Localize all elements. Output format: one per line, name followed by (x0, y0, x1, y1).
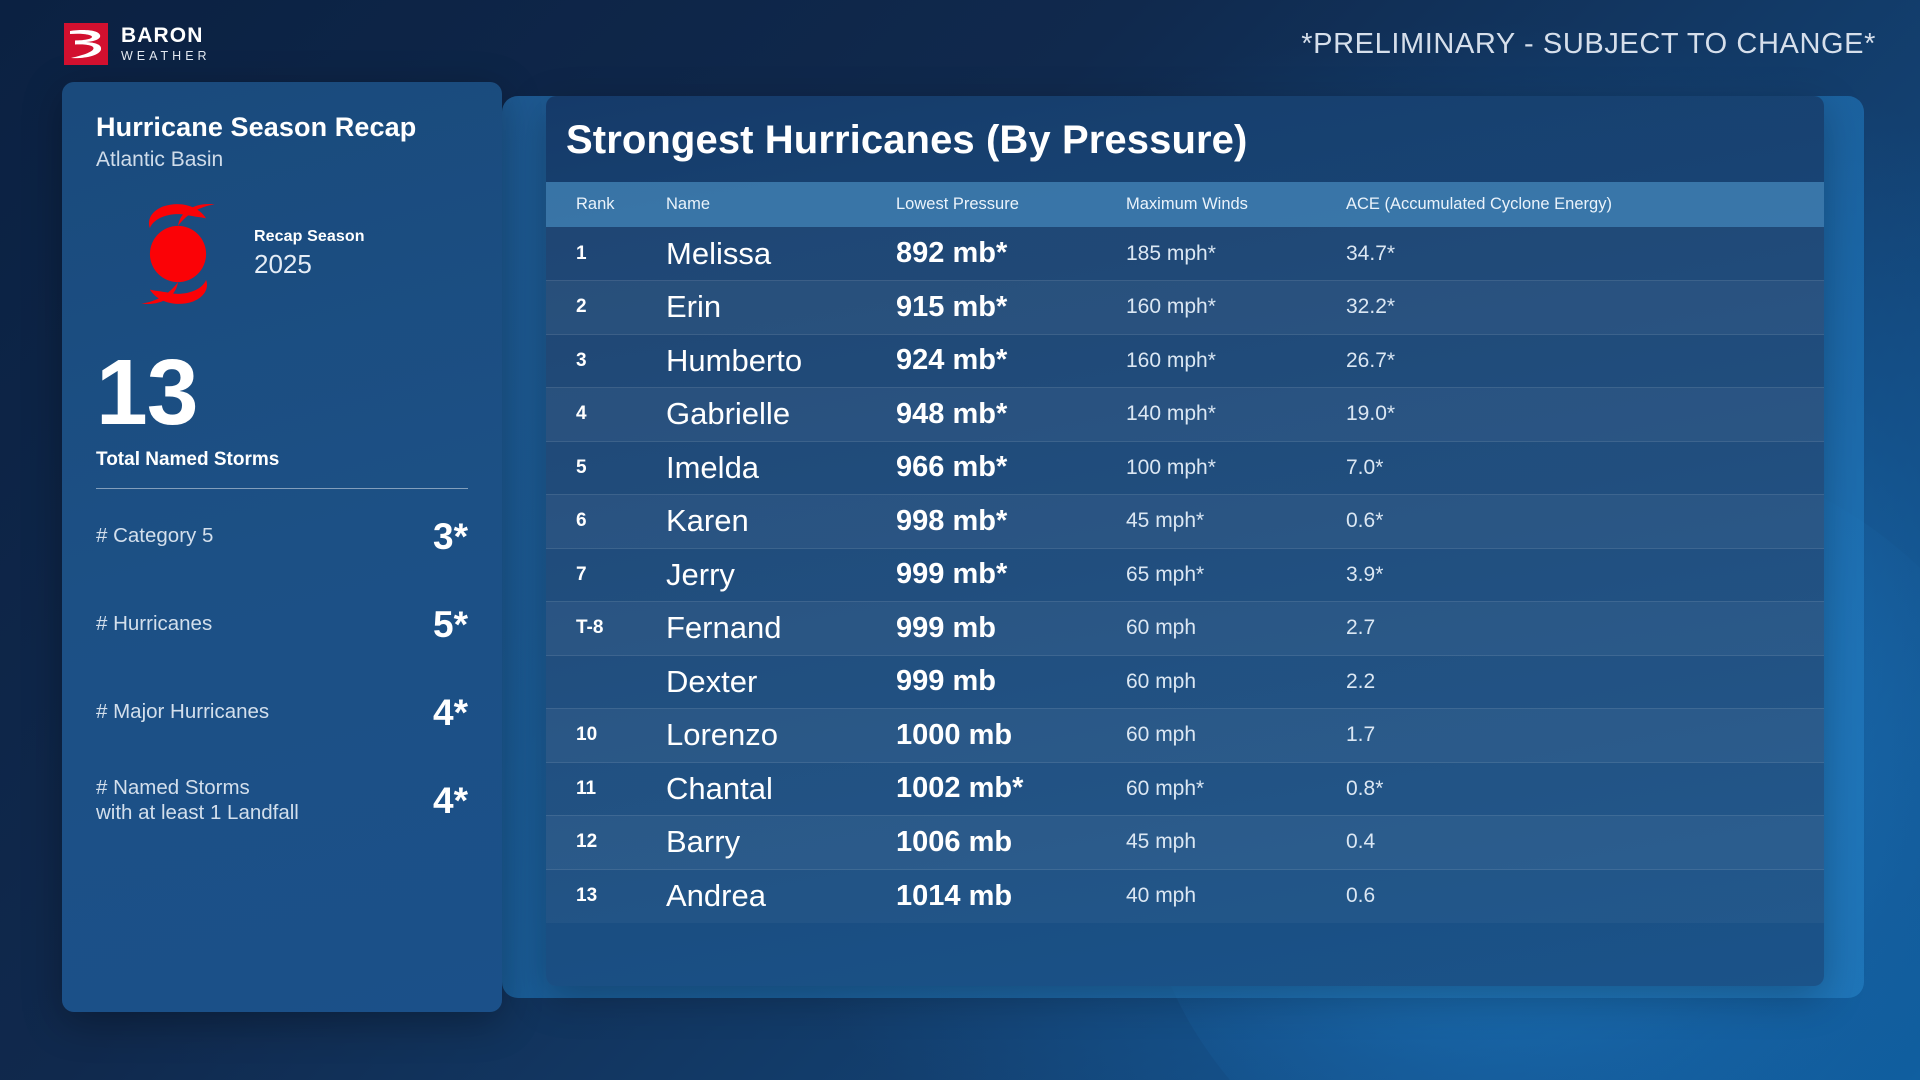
cell-rank-text: 5 (576, 457, 587, 478)
cell-ace-text: 0.8* (1346, 777, 1383, 800)
cell-winds-text: 65 mph* (1126, 563, 1204, 586)
cell-ace-text: 0.6* (1346, 509, 1383, 532)
cell-ace: 26.7* (1346, 334, 1824, 388)
cell-rank-text: 2 (576, 296, 587, 317)
cell-winds-text: 160 mph* (1126, 349, 1216, 372)
stat-label: # Category 5 (96, 524, 213, 548)
cell-winds: 60 mph (1126, 655, 1346, 709)
table-row[interactable]: T-8Fernand999 mb60 mph2.7 (546, 602, 1824, 656)
cell-name-text: Lorenzo (666, 717, 778, 752)
table-header-row: Rank Name Lowest Pressure Maximum Winds … (546, 182, 1824, 227)
table-row[interactable]: 13Andrea1014 mb40 mph0.6 (546, 869, 1824, 923)
cell-pressure-text: 1002 mb* (896, 772, 1023, 804)
table-row[interactable]: 11Chantal1002 mb*60 mph*0.8* (546, 762, 1824, 816)
cell-pressure-text: 915 mb* (896, 291, 1007, 323)
total-named-storms-label: Total Named Storms (96, 449, 468, 471)
cell-winds: 45 mph (1126, 816, 1346, 870)
cell-name: Erin (666, 281, 896, 335)
cell-ace: 2.2 (1346, 655, 1824, 709)
cell-pressure: 948 mb* (896, 388, 1126, 442)
cell-pressure-text: 1006 mb (896, 826, 1012, 858)
cell-pressure-text: 1014 mb (896, 880, 1012, 912)
cell-name: Chantal (666, 762, 896, 816)
cell-winds-text: 60 mph (1126, 616, 1196, 639)
baron-b-logo-icon (64, 23, 108, 65)
cell-rank-text: 13 (576, 885, 597, 906)
cell-winds-text: 100 mph* (1126, 456, 1216, 479)
cell-rank: 13 (546, 869, 666, 923)
top-bar: BARON WEATHER *PRELIMINARY - SUBJECT TO … (0, 0, 1920, 88)
cell-ace: 7.0* (1346, 441, 1824, 495)
strongest-hurricanes-panel: Strongest Hurricanes (By Pressure) Rank … (546, 96, 1824, 986)
cell-winds: 65 mph* (1126, 548, 1346, 602)
cell-ace-text: 0.4 (1346, 830, 1375, 853)
cell-pressure-text: 998 mb* (896, 505, 1007, 537)
cell-rank: 4 (546, 388, 666, 442)
cell-pressure-text: 892 mb* (896, 237, 1007, 269)
cell-pressure: 915 mb* (896, 281, 1126, 335)
cell-name-text: Fernand (666, 610, 781, 645)
cell-ace-text: 0.6 (1346, 884, 1375, 907)
cell-pressure: 1014 mb (896, 869, 1126, 923)
column-header-rank[interactable]: Rank (546, 182, 666, 227)
cell-pressure: 999 mb* (896, 548, 1126, 602)
cell-rank: 5 (546, 441, 666, 495)
cell-winds-text: 40 mph (1126, 884, 1196, 907)
stat-label-line2: with at least 1 Landfall (96, 801, 299, 825)
cell-pressure-text: 1000 mb (896, 719, 1012, 751)
table-row[interactable]: 1Melissa892 mb*185 mph*34.7* (546, 227, 1824, 281)
cell-winds-text: 160 mph* (1126, 295, 1216, 318)
cell-name-text: Gabrielle (666, 396, 790, 431)
cell-pressure: 1006 mb (896, 816, 1126, 870)
cell-name: Andrea (666, 869, 896, 923)
cell-name-text: Imelda (666, 450, 759, 485)
cell-ace-text: 34.7* (1346, 242, 1395, 265)
cell-ace-text: 32.2* (1346, 295, 1395, 318)
cell-pressure-text: 999 mb* (896, 558, 1007, 590)
cell-name: Barry (666, 816, 896, 870)
cell-winds: 185 mph* (1126, 227, 1346, 281)
table-row[interactable]: 2Erin915 mb*160 mph*32.2* (546, 281, 1824, 335)
cell-ace-text: 19.0* (1346, 402, 1395, 425)
table-row[interactable]: 7Jerry999 mb*65 mph*3.9* (546, 548, 1824, 602)
cell-ace: 34.7* (1346, 227, 1824, 281)
cell-winds: 60 mph* (1126, 762, 1346, 816)
cell-winds: 160 mph* (1126, 334, 1346, 388)
season-value: 2025 (254, 249, 365, 280)
cell-ace-text: 1.7 (1346, 723, 1375, 746)
brand-subname: WEATHER (121, 50, 211, 63)
cell-name: Humberto (666, 334, 896, 388)
stat-label: # Named Storms with at least 1 Landfall (96, 776, 299, 824)
stat-value: 3* (433, 516, 468, 558)
cell-rank-text: 4 (576, 403, 587, 424)
cell-pressure-text: 999 mb (896, 665, 996, 697)
table-title: Strongest Hurricanes (By Pressure) (546, 96, 1824, 163)
cell-rank: 3 (546, 334, 666, 388)
cell-name-text: Barry (666, 824, 740, 859)
season-row: Recap Season 2025 (96, 200, 468, 308)
panel-title: Hurricane Season Recap (96, 112, 468, 143)
cell-name: Melissa (666, 227, 896, 281)
cell-winds-text: 185 mph* (1126, 242, 1216, 265)
cell-ace-text: 3.9* (1346, 563, 1383, 586)
cell-pressure: 998 mb* (896, 495, 1126, 549)
cell-winds-text: 60 mph* (1126, 777, 1204, 800)
recap-summary-panel: Hurricane Season Recap Atlantic Basin Re… (62, 82, 502, 1012)
cell-winds: 40 mph (1126, 869, 1346, 923)
hurricanes-table: Rank Name Lowest Pressure Maximum Winds … (546, 182, 1824, 923)
cell-rank: 7 (546, 548, 666, 602)
stat-label-line1: # Named Storms (96, 776, 299, 800)
cell-name: Jerry (666, 548, 896, 602)
cell-rank-text: 7 (576, 564, 587, 585)
cell-name-text: Andrea (666, 878, 766, 913)
cell-winds: 60 mph (1126, 709, 1346, 763)
cell-pressure: 924 mb* (896, 334, 1126, 388)
season-label: Recap Season (254, 228, 365, 246)
cell-winds-text: 140 mph* (1126, 402, 1216, 425)
cell-rank: 12 (546, 816, 666, 870)
cell-ace: 0.4 (1346, 816, 1824, 870)
cell-winds: 140 mph* (1126, 388, 1346, 442)
cell-winds-text: 60 mph (1126, 723, 1196, 746)
stat-value: 4* (433, 780, 468, 822)
season-text: Recap Season 2025 (254, 228, 365, 280)
cell-ace: 19.0* (1346, 388, 1824, 442)
brand-logo: BARON WEATHER (64, 23, 211, 65)
stat-row-hurricanes: # Hurricanes 5* (96, 581, 468, 669)
cell-name-text: Humberto (666, 343, 802, 378)
cell-name: Gabrielle (666, 388, 896, 442)
cell-winds: 160 mph* (1126, 281, 1346, 335)
cell-ace: 0.8* (1346, 762, 1824, 816)
cell-pressure-text: 924 mb* (896, 344, 1007, 376)
column-header-pressure[interactable]: Lowest Pressure (896, 182, 1126, 227)
table-body: 1Melissa892 mb*185 mph*34.7*2Erin915 mb*… (546, 227, 1824, 923)
column-header-winds[interactable]: Maximum Winds (1126, 182, 1346, 227)
cell-name: Imelda (666, 441, 896, 495)
cell-rank-text: 3 (576, 350, 587, 371)
cell-winds: 60 mph (1126, 602, 1346, 656)
table-row[interactable]: Dexter999 mb60 mph2.2 (546, 655, 1824, 709)
cell-rank (546, 655, 666, 709)
cell-ace-text: 2.2 (1346, 670, 1375, 693)
table-row[interactable]: 3Humberto924 mb*160 mph*26.7* (546, 334, 1824, 388)
table-row[interactable]: 10Lorenzo1000 mb60 mph1.7 (546, 709, 1824, 763)
table-head: Rank Name Lowest Pressure Maximum Winds … (546, 182, 1824, 227)
cell-pressure-text: 966 mb* (896, 451, 1007, 483)
column-header-name[interactable]: Name (666, 182, 896, 227)
cell-name: Karen (666, 495, 896, 549)
cell-ace: 0.6* (1346, 495, 1824, 549)
cell-ace-text: 26.7* (1346, 349, 1395, 372)
cell-ace: 0.6 (1346, 869, 1824, 923)
cell-rank: 2 (546, 281, 666, 335)
cell-rank: T-8 (546, 602, 666, 656)
stat-value: 5* (433, 604, 468, 646)
cell-pressure-text: 948 mb* (896, 398, 1007, 430)
cell-pressure: 1002 mb* (896, 762, 1126, 816)
stat-row-category5: # Category 5 3* (96, 493, 468, 581)
stat-row-landfall: # Named Storms with at least 1 Landfall … (96, 757, 468, 845)
cell-name-text: Melissa (666, 236, 771, 271)
cell-rank-text: 12 (576, 831, 597, 852)
cell-rank-text: 10 (576, 724, 597, 745)
cell-winds: 100 mph* (1126, 441, 1346, 495)
cell-pressure: 966 mb* (896, 441, 1126, 495)
cell-name: Lorenzo (666, 709, 896, 763)
brand-wordmark: BARON WEATHER (121, 25, 211, 63)
column-header-ace[interactable]: ACE (Accumulated Cyclone Energy) (1346, 182, 1824, 227)
cell-rank: 10 (546, 709, 666, 763)
cell-pressure: 1000 mb (896, 709, 1126, 763)
cell-rank-text: T-8 (576, 617, 603, 638)
cell-name: Dexter (666, 655, 896, 709)
cell-winds: 45 mph* (1126, 495, 1346, 549)
cell-winds-text: 45 mph* (1126, 509, 1204, 532)
cell-rank-text: 6 (576, 510, 587, 531)
cell-rank: 11 (546, 762, 666, 816)
stat-list: # Category 5 3* # Hurricanes 5* # Major … (96, 493, 468, 845)
cell-ace: 3.9* (1346, 548, 1824, 602)
cell-name: Fernand (666, 602, 896, 656)
stat-label: # Major Hurricanes (96, 700, 269, 724)
cell-pressure: 999 mb (896, 655, 1126, 709)
stat-value: 4* (433, 692, 468, 734)
total-named-storms-value: 13 (96, 350, 468, 436)
cell-winds-text: 45 mph (1126, 830, 1196, 853)
panel-divider (96, 488, 468, 489)
stat-label: # Hurricanes (96, 612, 212, 636)
cell-pressure-text: 999 mb (896, 612, 996, 644)
cell-pressure: 892 mb* (896, 227, 1126, 281)
cell-ace: 2.7 (1346, 602, 1824, 656)
cell-rank: 1 (546, 227, 666, 281)
table-row[interactable]: 12Barry1006 mb45 mph0.4 (546, 816, 1824, 870)
cell-ace-text: 7.0* (1346, 456, 1383, 479)
cell-name-text: Dexter (666, 664, 757, 699)
slide-canvas: BARON WEATHER *PRELIMINARY - SUBJECT TO … (0, 0, 1920, 1080)
cell-winds-text: 60 mph (1126, 670, 1196, 693)
cell-name-text: Erin (666, 289, 721, 324)
table-row[interactable]: 6Karen998 mb*45 mph*0.6* (546, 495, 1824, 549)
brand-name: BARON (121, 25, 211, 46)
cell-ace: 32.2* (1346, 281, 1824, 335)
cell-name-text: Chantal (666, 771, 773, 806)
cell-rank-text: 1 (576, 243, 587, 264)
cell-name-text: Karen (666, 503, 749, 538)
table-row[interactable]: 5Imelda966 mb*100 mph*7.0* (546, 441, 1824, 495)
hurricane-symbol-icon (124, 200, 232, 308)
stat-row-major-hurricanes: # Major Hurricanes 4* (96, 669, 468, 757)
table-row[interactable]: 4Gabrielle948 mb*140 mph*19.0* (546, 388, 1824, 442)
cell-pressure: 999 mb (896, 602, 1126, 656)
cell-rank: 6 (546, 495, 666, 549)
panel-subtitle: Atlantic Basin (96, 148, 468, 172)
cell-ace: 1.7 (1346, 709, 1824, 763)
cell-rank-text: 11 (576, 778, 596, 799)
cell-name-text: Jerry (666, 557, 735, 592)
cell-ace-text: 2.7 (1346, 616, 1375, 639)
preliminary-disclaimer: *PRELIMINARY - SUBJECT TO CHANGE* (1301, 28, 1876, 61)
